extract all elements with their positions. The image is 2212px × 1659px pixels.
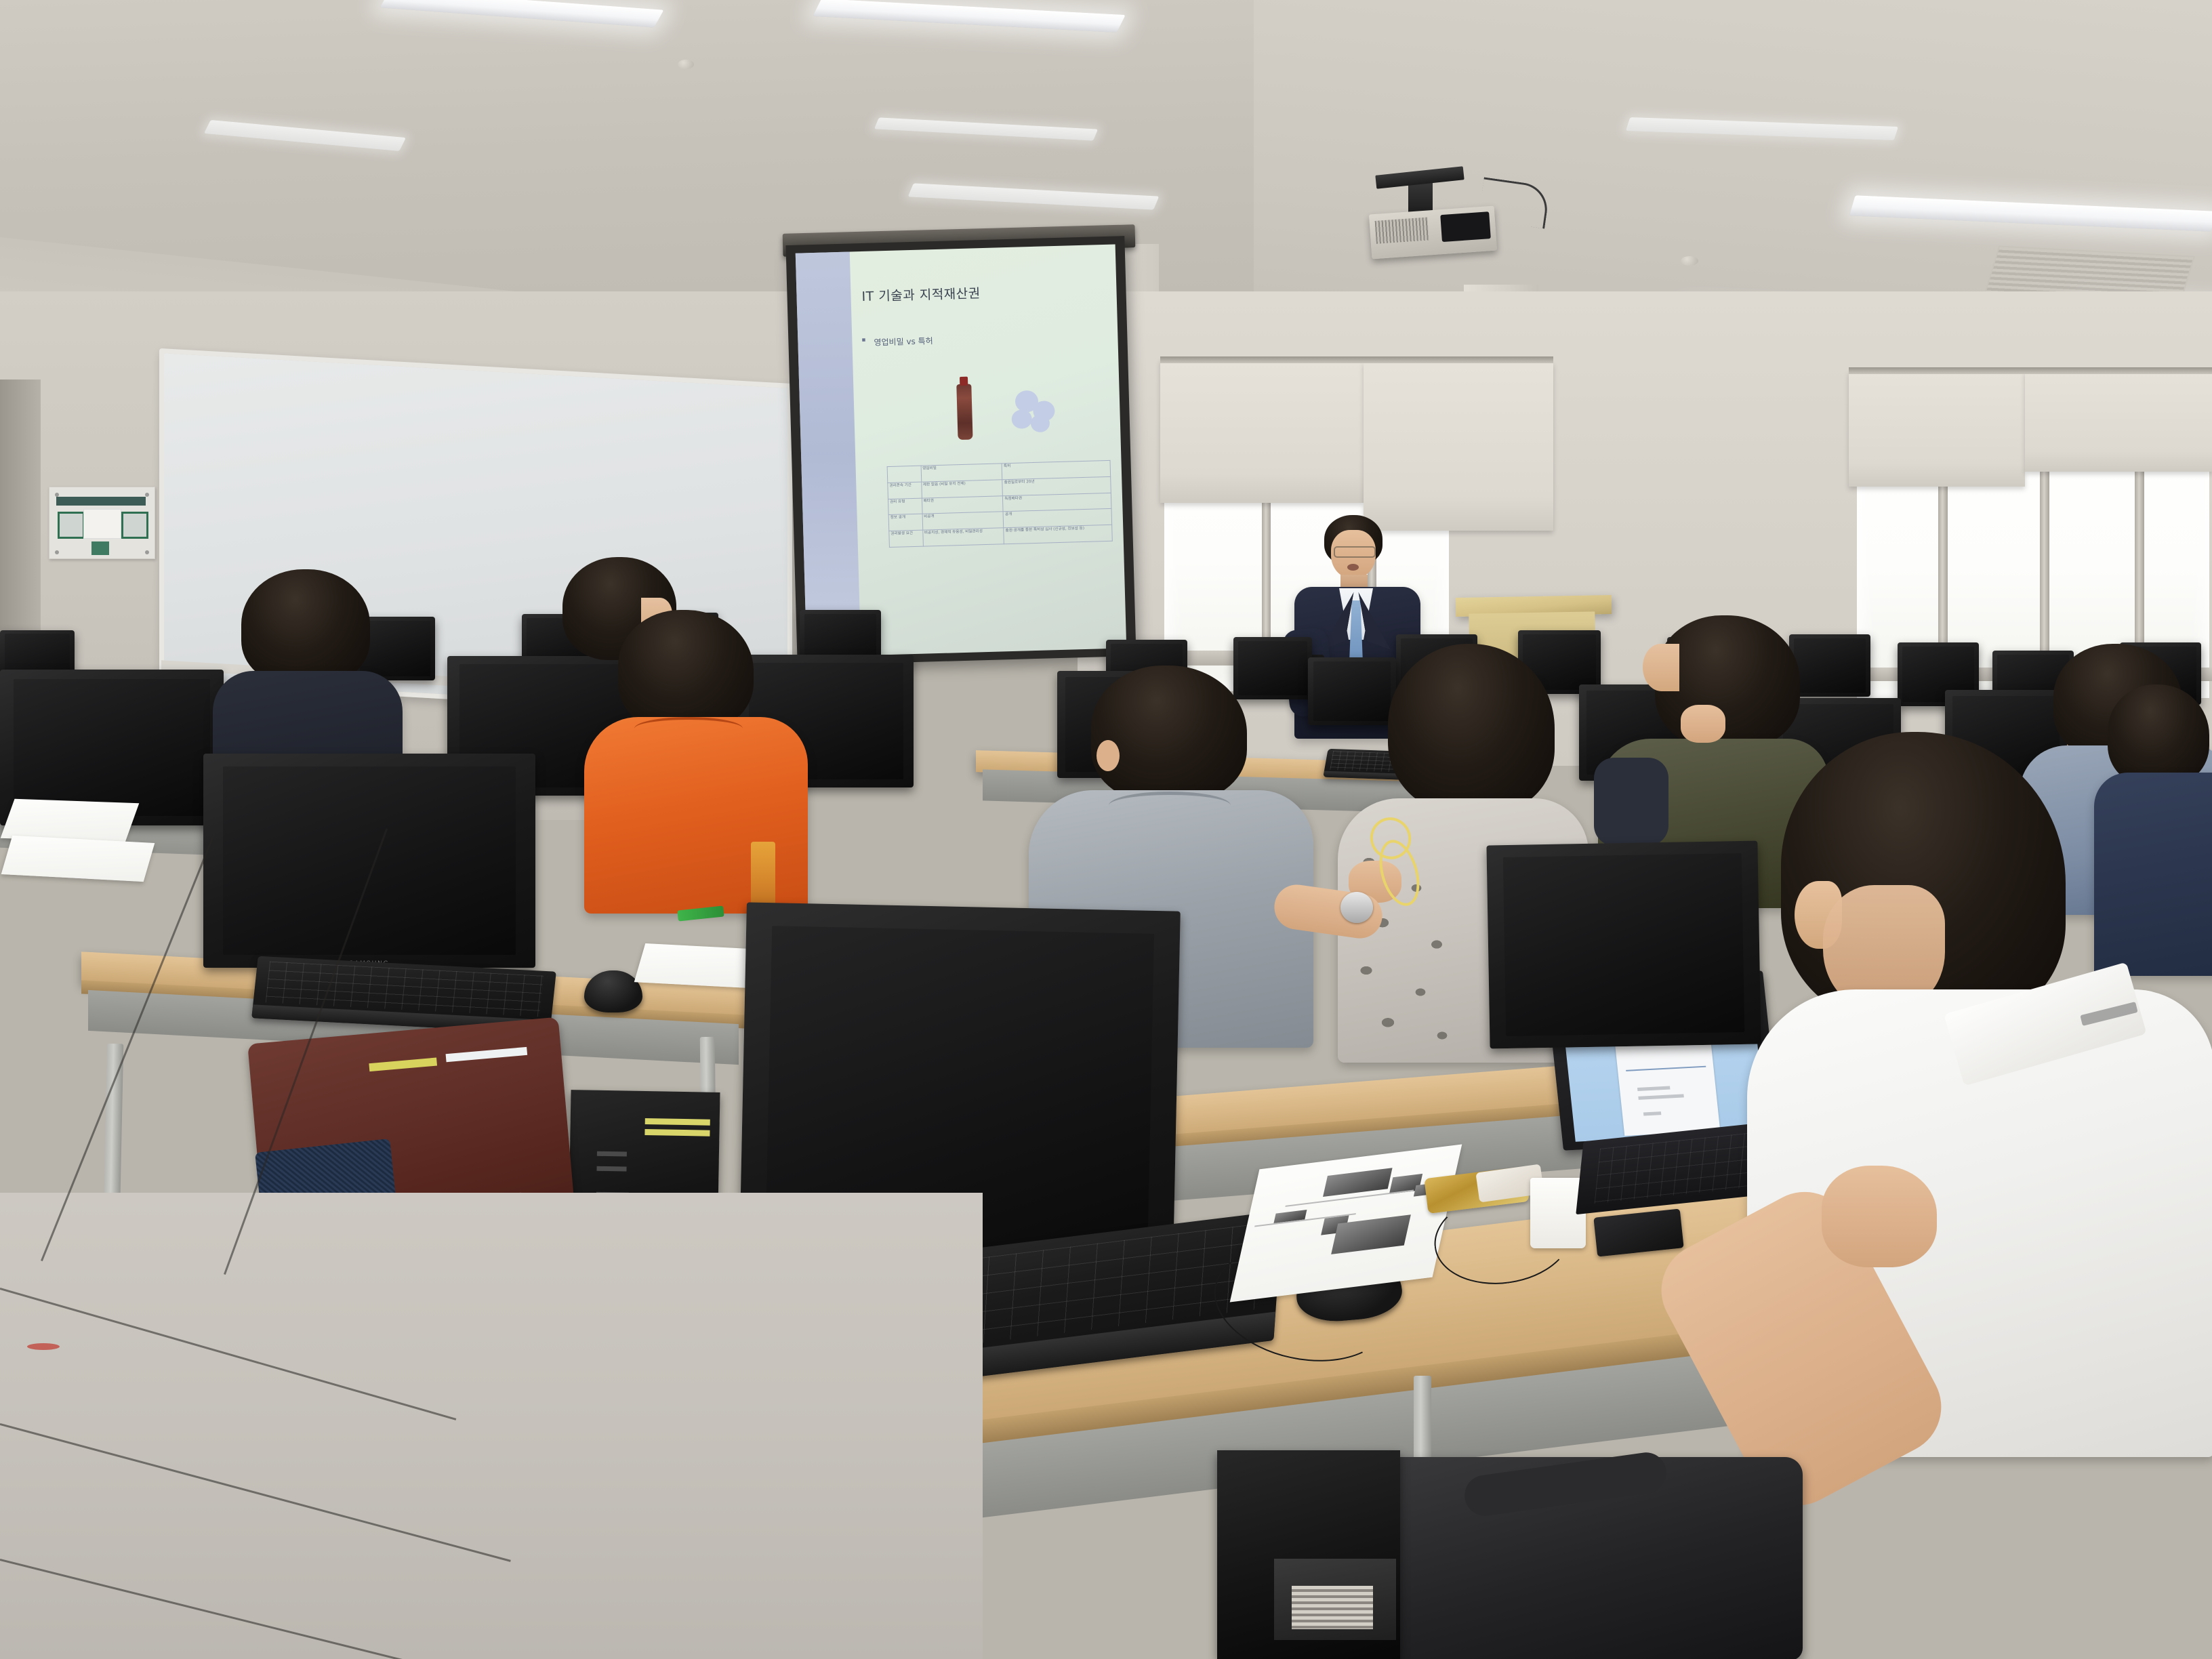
- mouse[interactable]: [584, 970, 642, 1012]
- table-cell: 비공지성, 경제적 유용성, 비밀관리성: [922, 528, 1004, 546]
- handout-figure: [1323, 1168, 1393, 1197]
- slide-bullet: 영업비밀 vs 특허: [874, 335, 933, 348]
- student-hand: [1822, 1166, 1937, 1267]
- plaque-screw: [55, 493, 59, 497]
- student-ear: [1097, 740, 1120, 771]
- blind-rail: [1160, 356, 1553, 363]
- student-sleeve: [1594, 758, 1668, 846]
- plaque-icon-left: [58, 512, 85, 539]
- plaque-screw: [145, 493, 149, 497]
- handout[interactable]: [634, 943, 761, 988]
- window-blind[interactable]: [2025, 371, 2212, 472]
- molecule-icon: [1011, 409, 1032, 429]
- window-blind[interactable]: [1160, 359, 1364, 503]
- table-cell: 권리 유형: [888, 498, 922, 515]
- floor: [0, 1193, 983, 1659]
- table-cell: 권리발생 요건: [889, 530, 923, 547]
- student-white-polo: [1727, 732, 2212, 1518]
- slide-title: IT 기술과 지적재산권: [861, 283, 981, 305]
- slide-surface: IT 기술과 지적재산권 영업비밀 vs 특허 영업비밀 특허 권리존속 기간 …: [796, 245, 1126, 657]
- door-frame[interactable]: [0, 380, 41, 651]
- cola-bottle-icon: [956, 384, 972, 441]
- student-orange-polo: [596, 610, 813, 908]
- student-hair: [1091, 665, 1247, 801]
- drink-bottle[interactable]: [751, 842, 775, 912]
- handout[interactable]: [1, 836, 155, 882]
- instructor-glasses-icon: [1334, 546, 1376, 558]
- student-collar: [1109, 792, 1231, 819]
- slide-sidebar-band: [796, 251, 861, 657]
- monitor: [1486, 841, 1761, 1049]
- smoke-detector-icon: [678, 60, 694, 69]
- smoke-detector-icon: [1681, 256, 1698, 266]
- student-hand: [1681, 705, 1725, 743]
- student-hair: [618, 610, 754, 732]
- student-collar: [634, 717, 743, 740]
- asset-label: [644, 1129, 710, 1136]
- projector: [1369, 206, 1497, 260]
- asset-sticker-yellow: [369, 1058, 437, 1072]
- student-face-profile: [1643, 644, 1679, 691]
- slide-comparison-table: 영업비밀 특허 권리존속 기간 제한 없음 (비밀 유지 전제) 출원일로부터 …: [887, 460, 1113, 548]
- plaque-header-bar: [56, 497, 146, 506]
- student-hair: [1388, 644, 1555, 813]
- wall-plaque: [49, 487, 155, 559]
- table-cell: 권리존속 기간: [888, 482, 922, 499]
- projection-screen[interactable]: IT 기술과 지적재산권 영업비밀 vs 특허 영업비밀 특허 권리존속 기간 …: [785, 236, 1136, 665]
- media-stack: [1292, 1586, 1373, 1629]
- wristwatch: [1340, 892, 1373, 923]
- table-cell: 제한 없음 (비밀 유지 전제): [921, 480, 1002, 498]
- table-cell: 비공개: [922, 512, 1004, 530]
- table-cell: 배타권: [922, 495, 1003, 514]
- blind-rail: [1849, 367, 2212, 374]
- monitor: SAMSUNG: [203, 754, 535, 968]
- window-blind[interactable]: [1364, 363, 1553, 531]
- asset-sticker-white: [446, 1047, 528, 1062]
- classroom-photo: IT 기술과 지적재산권 영업비밀 vs 특허 영업비밀 특허 권리존속 기간 …: [0, 0, 2212, 1659]
- student-hair: [241, 569, 370, 684]
- table-cell: 정보 공개: [888, 514, 922, 531]
- table-header-cell: [887, 466, 921, 483]
- molecule-icon: [1031, 414, 1050, 432]
- plaque-text-block: [83, 509, 121, 539]
- floor-debris: [27, 1343, 60, 1350]
- plaque-screw: [145, 550, 149, 554]
- plaque-icon-right: [121, 512, 148, 539]
- table-cell: 출원·공개를 통한 특허성 심사 (신규성, 진보성 등): [1004, 525, 1112, 544]
- table-header-cell: 영업비밀: [921, 464, 1002, 482]
- window-blind[interactable]: [1849, 371, 2025, 487]
- plaque-screw: [55, 550, 59, 554]
- plaque-footer-badge: [91, 541, 109, 555]
- asset-label: [645, 1118, 710, 1126]
- instructor-mouth: [1347, 564, 1359, 571]
